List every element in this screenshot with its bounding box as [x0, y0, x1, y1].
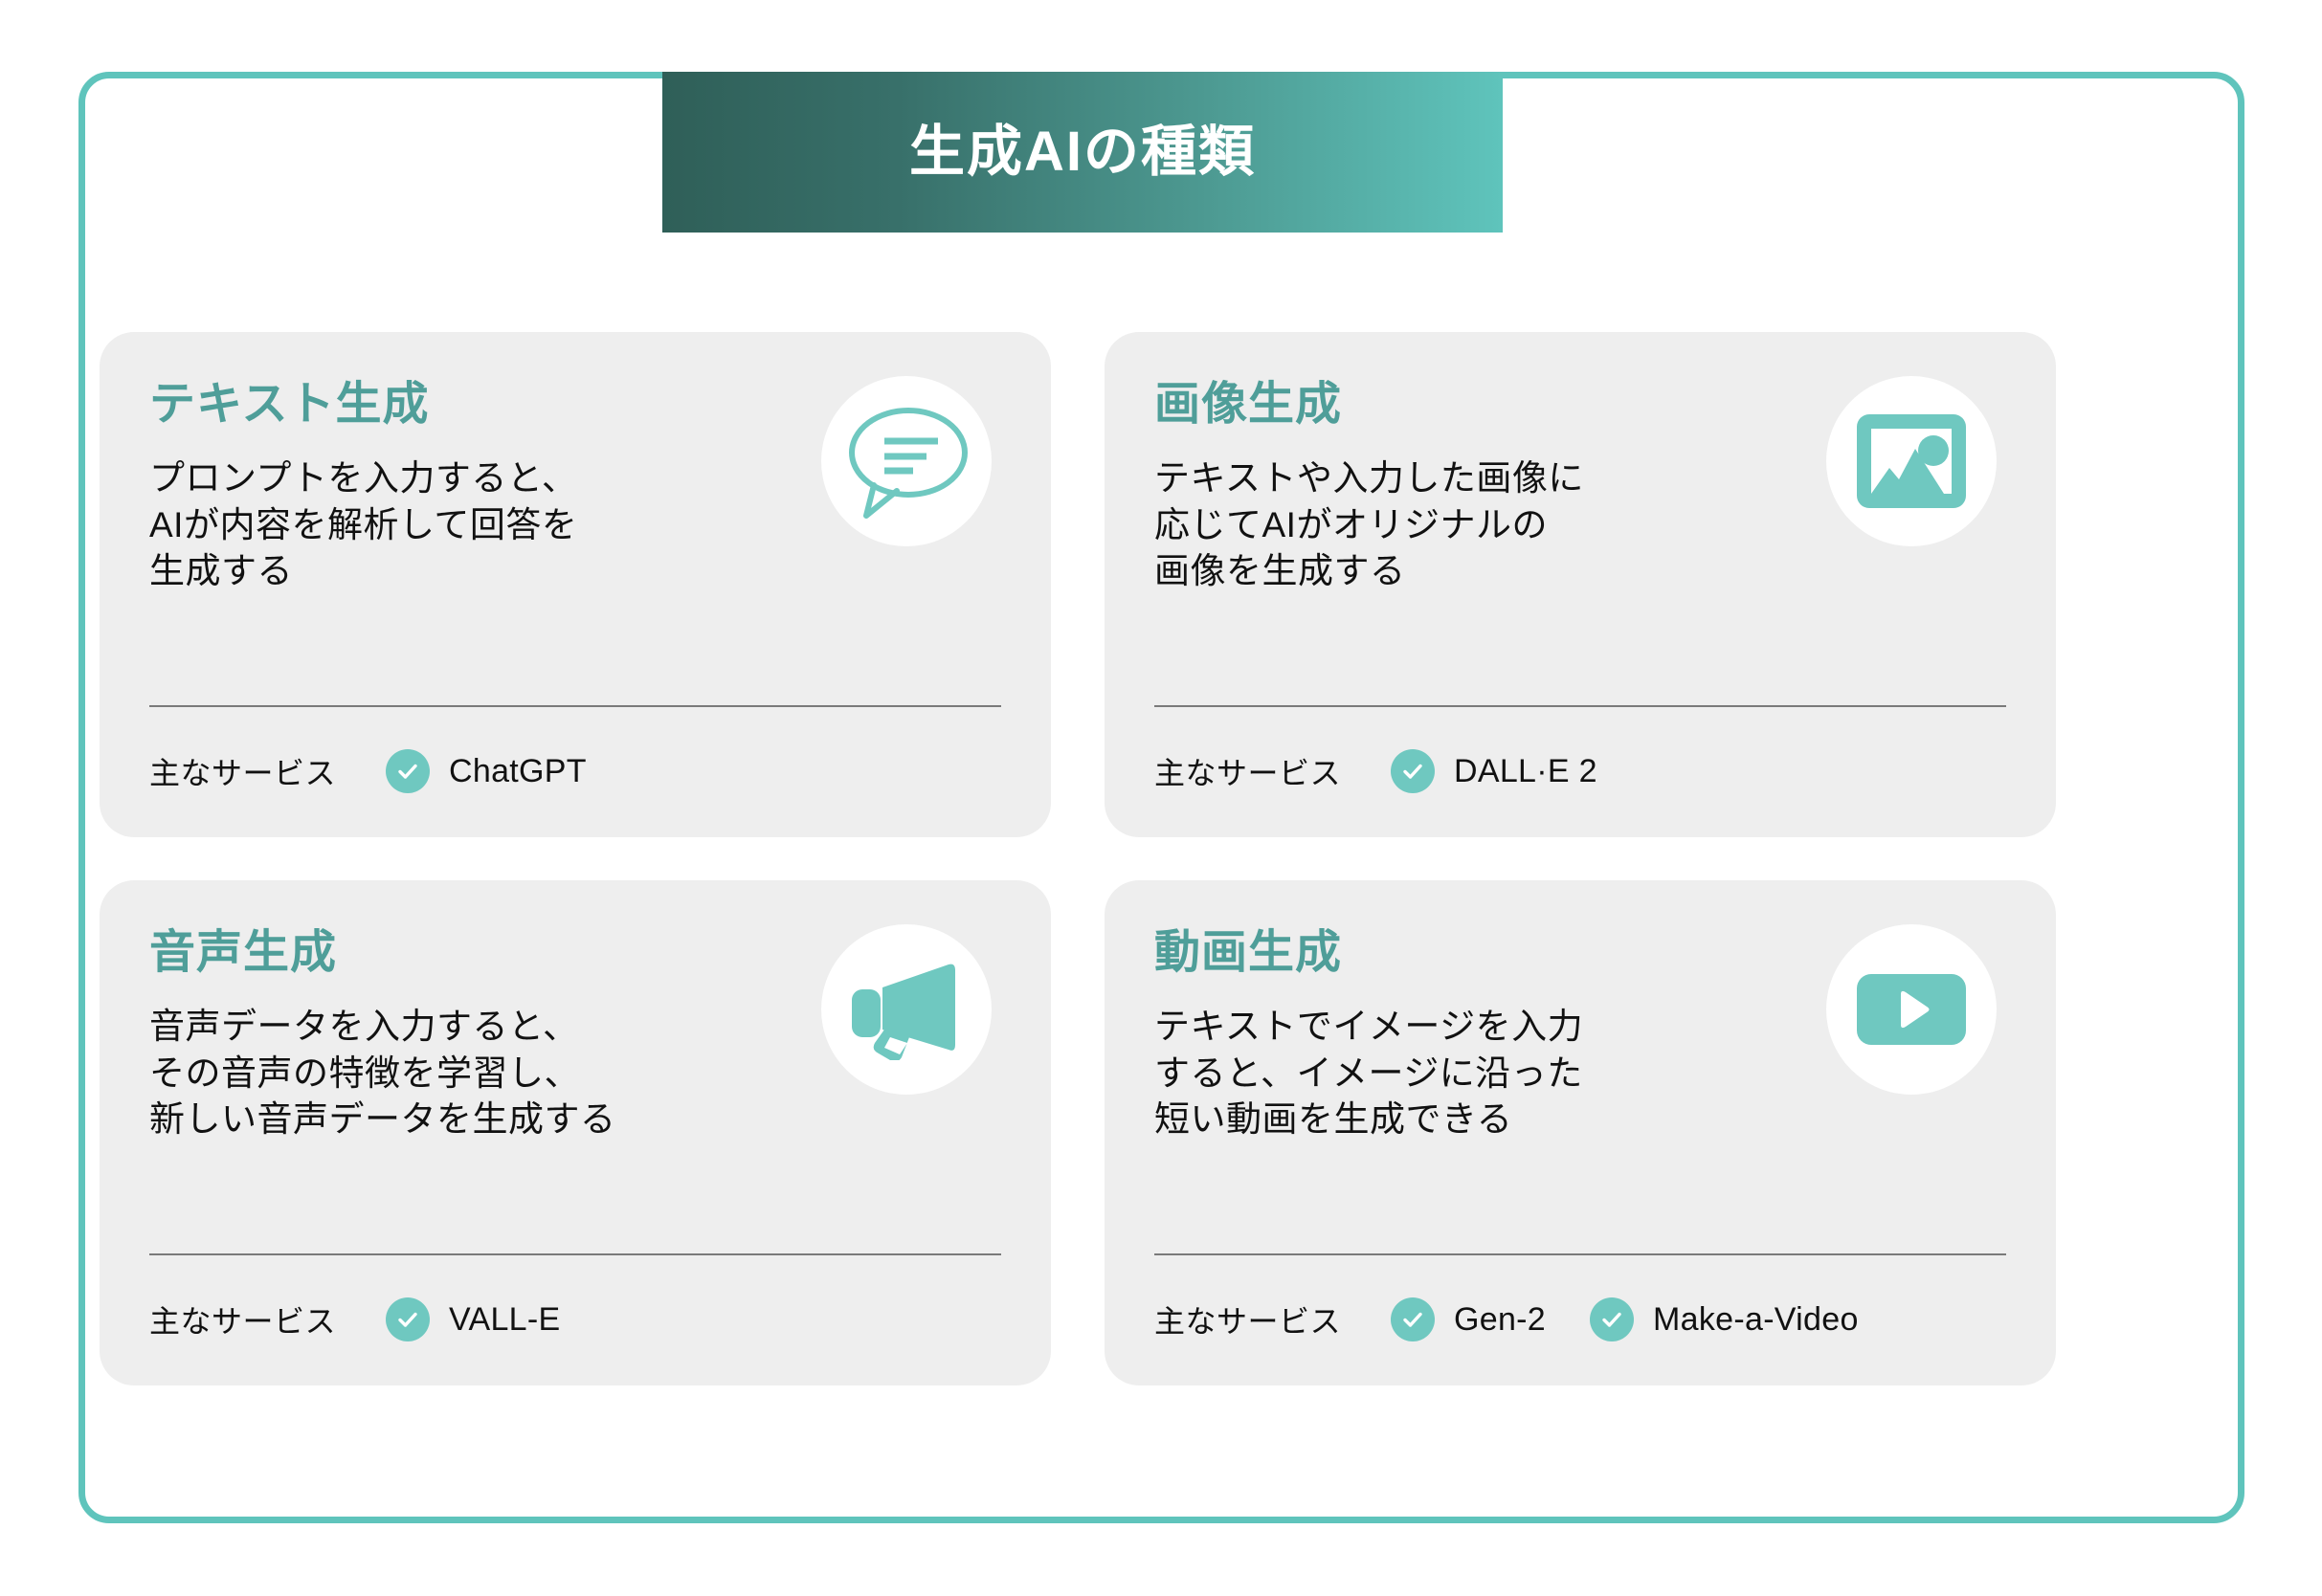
- service-row: 主なサービス VALL-E: [149, 1297, 1001, 1341]
- service-item[interactable]: Gen-2: [1391, 1297, 1546, 1341]
- picture-icon: [1855, 412, 1968, 510]
- check-icon: [386, 749, 430, 793]
- check-icon: [1590, 1297, 1634, 1341]
- service-item[interactable]: ChatGPT: [386, 749, 587, 793]
- services-label: 主なサービス: [1154, 749, 1341, 793]
- icon-badge: [821, 924, 992, 1095]
- services-label: 主なサービス: [1154, 1297, 1341, 1341]
- card-description: 音声データを入力すると、 その音声の特徴を学習し、 新しい音声データを生成する: [149, 1004, 685, 1143]
- service-name: Make-a-Video: [1653, 1301, 1859, 1339]
- card-description: プロンプトを入力すると、 AIが内容を解析して回答を 生成する: [149, 455, 685, 595]
- video-play-icon: [1856, 973, 1967, 1046]
- icon-badge: [821, 376, 992, 546]
- card-footer: 主なサービス ChatGPT: [149, 705, 1001, 793]
- icon-badge: [1826, 376, 1997, 546]
- megaphone-icon: [850, 959, 963, 1060]
- card-description: テキストや入力した画像に 応じてAIがオリジナルの 画像を生成する: [1154, 455, 1690, 595]
- card-grid: テキスト生成 プロンプトを入力すると、 AIが内容を解析して回答を 生成する: [100, 332, 2056, 1385]
- card-footer: 主なサービス DALL·E 2: [1154, 705, 2006, 793]
- card-text-generation[interactable]: テキスト生成 プロンプトを入力すると、 AIが内容を解析して回答を 生成する: [100, 332, 1051, 837]
- services-label: 主なサービス: [149, 1297, 336, 1341]
- check-icon: [386, 1297, 430, 1341]
- card-image-generation[interactable]: 画像生成 テキストや入力した画像に 応じてAIがオリジナルの 画像を生成する 主…: [1105, 332, 2056, 837]
- divider: [1154, 705, 2006, 707]
- icon-badge: [1826, 924, 1997, 1095]
- service-name: VALL-E: [449, 1301, 560, 1339]
- title-banner: 生成AIの種類: [662, 72, 1503, 233]
- service-row: 主なサービス DALL·E 2: [1154, 749, 2006, 793]
- divider: [149, 705, 1001, 707]
- service-row: 主なサービス Gen-2: [1154, 1297, 2006, 1341]
- card-footer: 主なサービス VALL-E: [149, 1253, 1001, 1341]
- service-item[interactable]: Make-a-Video: [1590, 1297, 1859, 1341]
- infographic-canvas: 生成AIの種類 テキスト生成 プロンプトを入力すると、 AIが内容を解析して回答…: [0, 0, 2322, 1596]
- card-footer: 主なサービス Gen-2: [1154, 1253, 2006, 1341]
- page-title: 生成AIの種類: [909, 124, 1256, 180]
- card-voice-generation[interactable]: 音声生成 音声データを入力すると、 その音声の特徴を学習し、 新しい音声データを…: [100, 880, 1051, 1385]
- check-icon: [1391, 749, 1435, 793]
- service-name: ChatGPT: [449, 753, 587, 790]
- service-name: Gen-2: [1454, 1301, 1546, 1339]
- speech-bubble-icon: [845, 403, 968, 520]
- card-description: テキストでイメージを入力 すると、イメージに沿った 短い動画を生成できる: [1154, 1004, 1690, 1143]
- check-icon: [1391, 1297, 1435, 1341]
- divider: [1154, 1253, 2006, 1255]
- service-item[interactable]: VALL-E: [386, 1297, 560, 1341]
- divider: [149, 1253, 1001, 1255]
- service-item[interactable]: DALL·E 2: [1391, 749, 1597, 793]
- service-row: 主なサービス ChatGPT: [149, 749, 1001, 793]
- card-video-generation[interactable]: 動画生成 テキストでイメージを入力 すると、イメージに沿った 短い動画を生成でき…: [1105, 880, 2056, 1385]
- services-label: 主なサービス: [149, 749, 336, 793]
- service-name: DALL·E 2: [1454, 753, 1597, 790]
